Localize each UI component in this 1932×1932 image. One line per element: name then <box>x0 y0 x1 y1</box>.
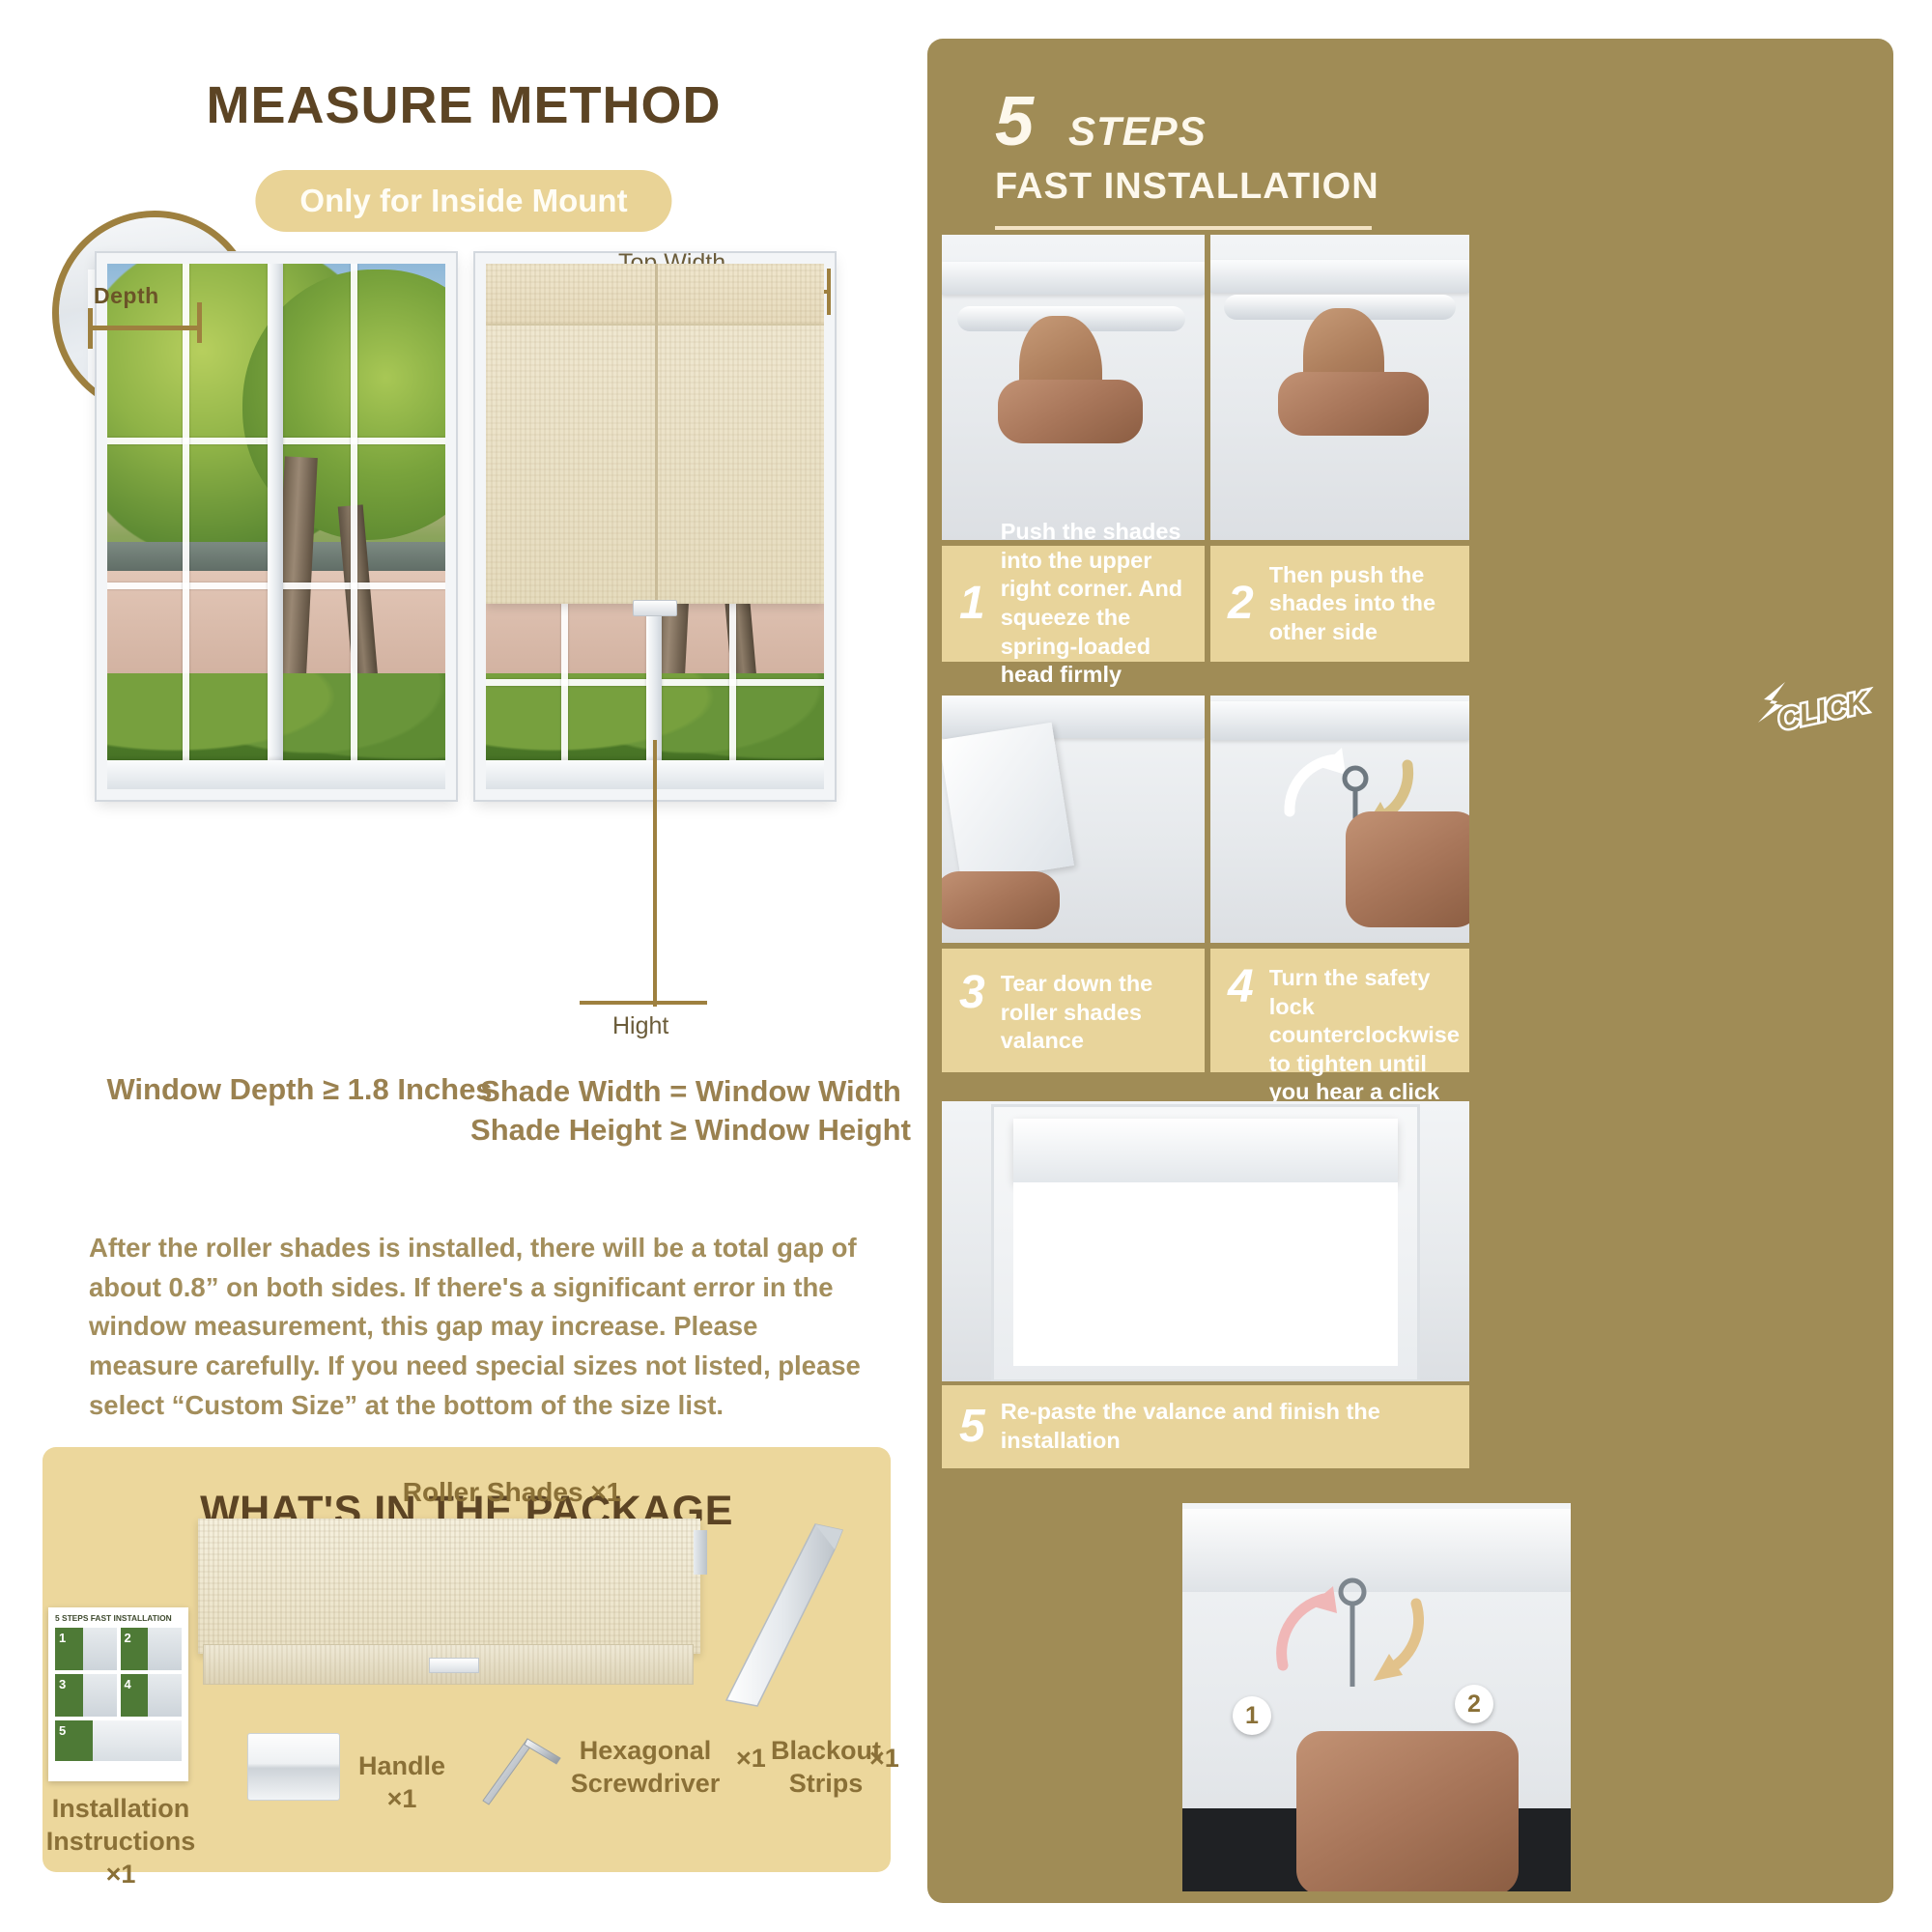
sheet-step-photo <box>148 1628 182 1670</box>
measure-method-section: MEASURE METHOD Only for Inside Mount Dep… <box>0 0 927 1932</box>
sheet-step-photo <box>93 1720 182 1761</box>
step-5-photo <box>942 1101 1469 1381</box>
tips-badge-1: 1 <box>1233 1696 1271 1735</box>
shade-center-seam <box>655 264 658 604</box>
shade-headrail <box>942 696 1205 738</box>
step-4-caption: 4 Turn the safety lock counterclockwise … <box>1210 949 1469 1072</box>
click-spark-icon <box>1739 676 1797 734</box>
step-3-text: Tear down the roller shades valance <box>1001 970 1205 1056</box>
infographic-page: MEASURE METHOD Only for Inside Mount Dep… <box>0 0 1932 1932</box>
install-subtitle: FAST INSTALLATION <box>995 166 1379 208</box>
sheet-step-cell: 4 <box>121 1674 183 1717</box>
sheet-step-cell: 5 <box>55 1720 182 1761</box>
depth-measure-line <box>88 326 202 330</box>
window-photo-bare <box>97 253 456 800</box>
sheet-step-photo <box>148 1674 182 1717</box>
window-grid-line <box>351 264 357 789</box>
sheet-step-number: 3 <box>59 1677 66 1691</box>
roller-pull-tab <box>429 1658 479 1673</box>
inside-mount-badge: Only for Inside Mount <box>255 170 671 232</box>
hand-image <box>1296 1731 1519 1891</box>
shade-headrail <box>942 262 1205 295</box>
sheet-step-number: 5 <box>59 1723 66 1738</box>
step-5-caption: 5 Re-paste the valance and finish the in… <box>942 1385 1469 1468</box>
step-1-number: 1 <box>959 581 985 627</box>
step-4-photo <box>1210 696 1469 943</box>
step-3-number: 3 <box>959 970 985 1016</box>
window-mullion <box>268 264 283 789</box>
sheet-step-grid: 1 2 3 4 5 <box>55 1628 182 1761</box>
blackout-strips-icon <box>723 1507 867 1710</box>
sheet-step-number: 4 <box>125 1677 131 1691</box>
blackout-qty: ×1 <box>869 1744 899 1774</box>
hex-qty: ×1 <box>736 1744 766 1774</box>
step-1-caption: 1 Push the shades into the upper right c… <box>942 546 1205 662</box>
page-title: MEASURE METHOD <box>0 75 927 135</box>
installation-sheet-thumbnail: 5 STEPS FAST INSTALLATION 1 2 3 4 <box>48 1607 188 1781</box>
hand-image <box>998 380 1143 443</box>
height-measure-line <box>580 1001 707 1005</box>
tips-photo: 1 2 <box>1182 1503 1571 1891</box>
title-divider <box>995 224 1372 230</box>
roller-shade-product-image <box>198 1519 700 1654</box>
label-handle: Handle ×1 <box>344 1750 460 1816</box>
sheet-step-cell: 3 <box>55 1674 117 1717</box>
shade-headrail <box>1210 260 1469 293</box>
hand-image <box>1278 372 1429 436</box>
step-3-caption: 3 Tear down the roller shades valance <box>942 949 1205 1072</box>
window-grid-line <box>183 264 189 789</box>
step-3-photo <box>942 696 1205 943</box>
step-2-caption: 2 Then push the shades into the other si… <box>1210 546 1469 662</box>
tips-badge-2: 2 <box>1455 1685 1493 1723</box>
depth-label: Depth <box>94 283 159 309</box>
shade-panel <box>1013 1182 1398 1366</box>
sheet-step-cell: 2 <box>121 1628 183 1670</box>
step-4-text: Turn the safety lock counterclockwise to… <box>1269 964 1469 1107</box>
handle-product-image <box>247 1733 340 1801</box>
window-photo-with-shade <box>475 253 835 800</box>
depth-tick-right <box>197 302 202 343</box>
roller-end-cap <box>694 1530 707 1575</box>
measurement-note: After the roller shades is installed, th… <box>89 1229 871 1425</box>
sheet-step-cell: 1 <box>55 1628 117 1670</box>
step-1-text: Push the shades into the upper right cor… <box>1001 518 1205 690</box>
caption-shade-width: Shade Width = Window Width <box>464 1072 918 1111</box>
installed-valance <box>1013 1119 1398 1182</box>
tips-rotation-arrows-icon <box>1240 1542 1463 1735</box>
label-roller-shades: Roller Shades ×1 <box>357 1475 667 1509</box>
hand-image <box>1346 811 1469 927</box>
step-2-number: 2 <box>1228 581 1254 627</box>
sheet-step-number: 1 <box>59 1631 66 1645</box>
step-1-photo <box>942 235 1205 540</box>
caption-shade-size: Shade Width = Window Width Shade Height … <box>464 1072 918 1151</box>
label-hex-screwdriver: Hexagonal Screwdriver <box>558 1735 732 1801</box>
caption-shade-height: Shade Height ≥ Window Height <box>464 1111 918 1150</box>
caption-window-depth: Window Depth ≥ 1.8 Inches <box>97 1072 502 1107</box>
sheet-header: 5 STEPS FAST INSTALLATION <box>55 1613 182 1623</box>
label-installation-instructions: Installation Instructions ×1 <box>29 1793 213 1890</box>
step-5-text: Re-paste the valance and finish the inst… <box>1001 1398 1469 1455</box>
step-4-number: 4 <box>1228 964 1254 1010</box>
hex-screwdriver-icon <box>473 1729 570 1806</box>
steps-word: STEPS <box>1068 108 1207 155</box>
sheet-step-photo <box>83 1674 117 1717</box>
sheet-step-number: 2 <box>125 1631 131 1645</box>
sheet-step-photo <box>83 1628 117 1670</box>
height-label: Hight <box>612 1012 668 1040</box>
height-vertical-line <box>653 740 657 1007</box>
window-sill <box>107 760 445 789</box>
top-width-tick-right <box>827 269 831 315</box>
steps-big-number: 5 <box>995 82 1034 161</box>
step-2-photo <box>1210 235 1469 540</box>
hand-image <box>942 871 1060 929</box>
valance-piece <box>942 723 1074 884</box>
shade-handle <box>633 600 677 616</box>
step-2-text: Then push the shades into the other side <box>1269 561 1469 647</box>
step-5-number: 5 <box>959 1404 985 1450</box>
